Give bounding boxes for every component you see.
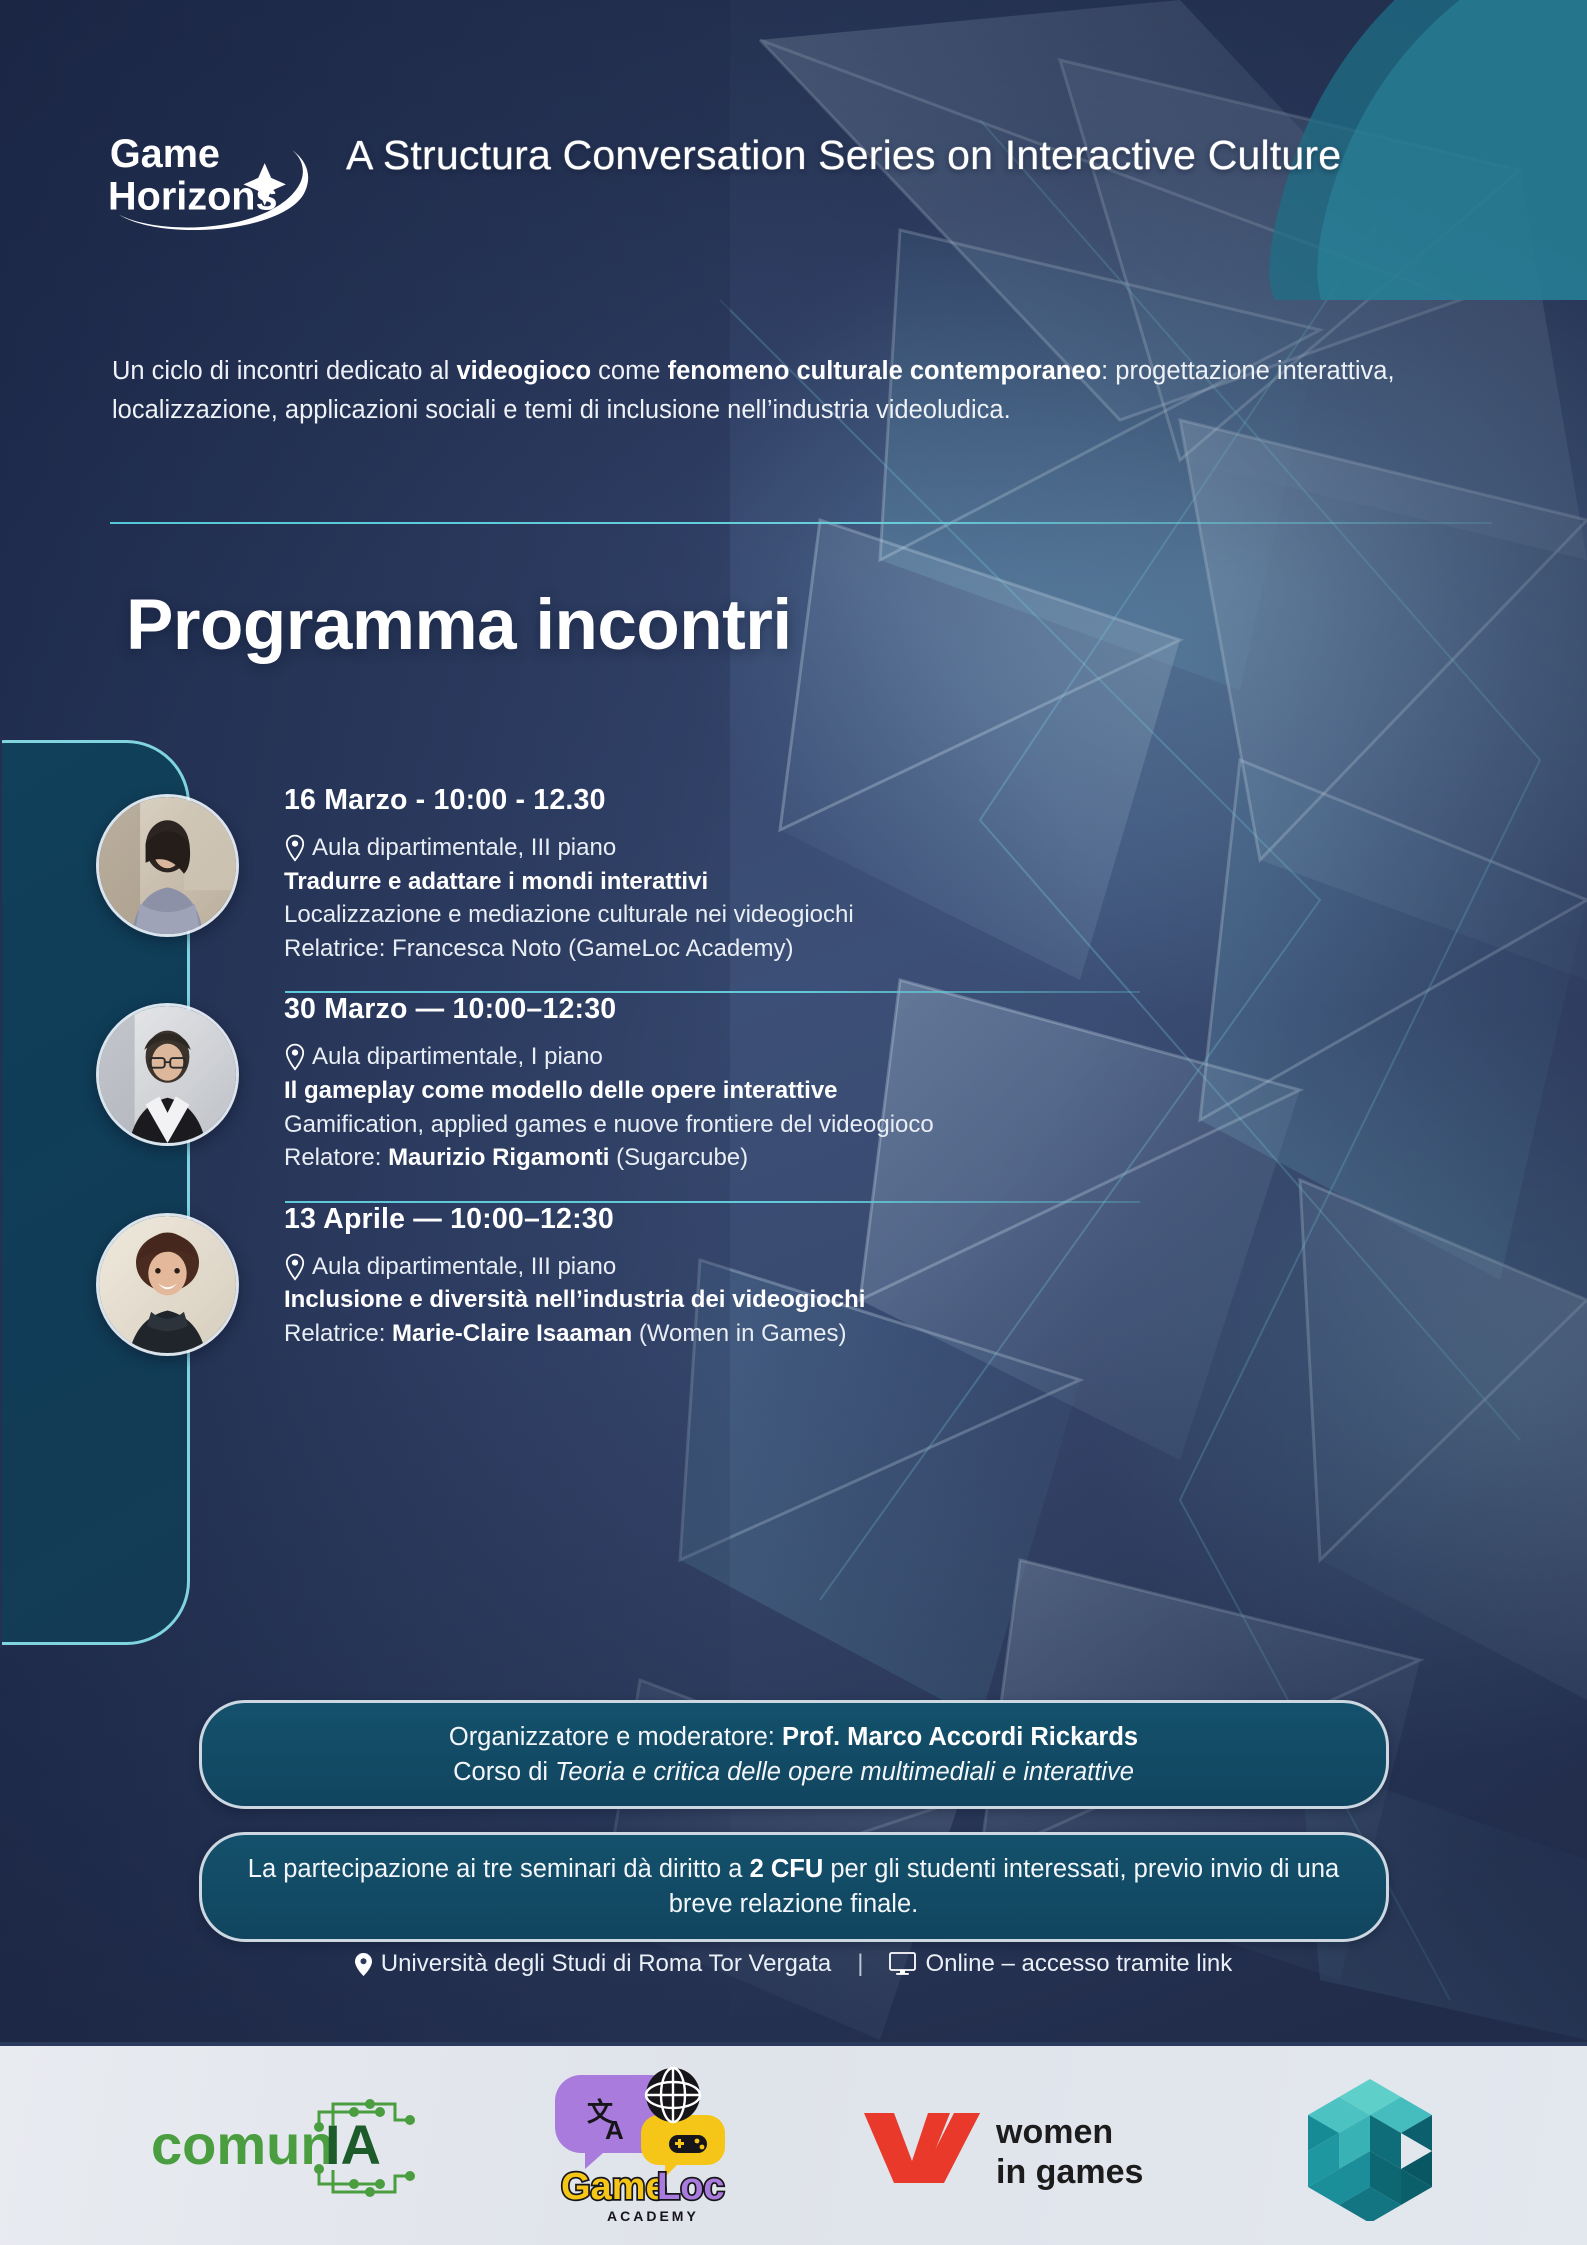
course-line: Corso di Teoria e critica delle opere mu… <box>242 1755 1346 1790</box>
event-speaker-label: Relatrice: <box>284 1320 392 1347</box>
event-date: 30 Marzo — 10:00–12:30 <box>284 993 934 1026</box>
program-list: 16 Marzo - 10:00 - 12.30 Aula dipartimen… <box>0 770 1587 1356</box>
cfu-pill: La partecipazione ai tre seminari dà dir… <box>199 1832 1389 1941</box>
event-subtitle: Localizzazione e mediazione culturale ne… <box>284 898 854 932</box>
poster-header: Game Horizons A Structura Conversation S… <box>108 128 1497 230</box>
event-details: 16 Marzo - 10:00 - 12.30 Aula dipartimen… <box>284 770 854 965</box>
event-speaker-name: Francesca Noto <box>392 935 561 962</box>
venue-chunk: Università degli Studi di Roma Tor Verga… <box>355 1950 831 1978</box>
intro-part-1: Un ciclo di incontri dedicato al <box>112 357 456 385</box>
header-divider <box>110 522 1492 524</box>
svg-text:Game: Game <box>110 132 220 176</box>
location-pin-icon <box>284 834 306 862</box>
event-title: Inclusione e diversità nell’industria de… <box>284 1283 865 1317</box>
event-location: Aula dipartimentale, I piano <box>284 1040 934 1074</box>
event-location-text: Aula dipartimentale, I piano <box>312 1040 603 1074</box>
event-speaker-affiliation: (Women in Games) <box>632 1320 846 1347</box>
avatar <box>96 794 239 937</box>
intro-bold-fenomeno: fenomeno culturale contemporaneo <box>668 357 1102 385</box>
list-item[interactable]: 30 Marzo — 10:00–12:30 Aula dipartimenta… <box>0 979 1587 1174</box>
svg-text:Game: Game <box>561 2166 667 2208</box>
event-title: Tradurre e adattare i mondi interattivi <box>284 865 854 899</box>
svg-text:in games: in games <box>996 2153 1143 2191</box>
location-pin-icon <box>355 1953 372 1976</box>
event-speaker-name: Marie-Claire Isaaman <box>392 1320 632 1347</box>
logo-comunia[interactable]: comun IA <box>147 2086 437 2206</box>
event-details: 13 Aprile — 10:00–12:30 Aula dipartiment… <box>284 1189 865 1351</box>
online-chunk: Online – accesso tramite link <box>889 1950 1232 1978</box>
game-horizons-logo: Game Horizons <box>108 128 320 230</box>
event-speaker: Relatrice: Francesca Noto (GameLoc Acade… <box>284 932 854 966</box>
event-date: 13 Aprile — 10:00–12:30 <box>284 1203 865 1236</box>
event-speaker-name: Maurizio Rigamonti <box>388 1144 609 1171</box>
event-details: 30 Marzo — 10:00–12:30 Aula dipartimenta… <box>284 979 934 1174</box>
sponsor-logo-strip: comun IA <box>0 2042 1587 2245</box>
event-speaker: Relatore: Maurizio Rigamonti (Sugarcube) <box>284 1141 934 1175</box>
event-date: 16 Marzo - 10:00 - 12.30 <box>284 784 854 817</box>
list-item[interactable]: 13 Aprile — 10:00–12:30 Aula dipartiment… <box>0 1189 1587 1356</box>
course-name: Teoria e critica delle opere multimedial… <box>555 1758 1134 1786</box>
intro-bold-videogioco: videogioco <box>456 357 591 385</box>
organizer-pill: Organizzatore e moderatore: Prof. Marco … <box>199 1700 1389 1809</box>
series-title: A Structura Conversation Series on Inter… <box>346 128 1341 178</box>
event-speaker-label: Relatrice: <box>284 935 392 962</box>
svg-text:women: women <box>995 2113 1113 2151</box>
location-pin-icon <box>284 1253 306 1281</box>
venue-meta-row: Università degli Studi di Roma Tor Verga… <box>0 1950 1587 1978</box>
event-location-text: Aula dipartimentale, III piano <box>312 1250 616 1284</box>
event-speaker-affiliation: (GameLoc Academy) <box>561 935 793 962</box>
svg-text:Loc: Loc <box>657 2166 725 2208</box>
intro-paragraph: Un ciclo di incontri dedicato al videogi… <box>112 352 1472 430</box>
location-pin-icon <box>284 1043 306 1071</box>
logo-gameloc-academy[interactable]: 文 A Game Loc ACADEMY <box>551 2063 741 2228</box>
svg-text:ACADEMY: ACADEMY <box>607 2208 699 2224</box>
event-speaker-affiliation: (Sugarcube) <box>609 1144 748 1171</box>
avatar <box>96 1003 239 1146</box>
event-speaker: Relatrice: Marie-Claire Isaaman (Women i… <box>284 1317 865 1351</box>
event-location-text: Aula dipartimentale, III piano <box>312 831 616 865</box>
course-prefix: Corso di <box>453 1758 555 1786</box>
cfu-part-1: La partecipazione ai tre seminari dà dir… <box>248 1855 750 1883</box>
monitor-icon <box>889 1952 916 1976</box>
avatar <box>96 1213 239 1356</box>
logo-hexagon[interactable] <box>1300 2071 1440 2221</box>
event-location: Aula dipartimentale, III piano <box>284 831 854 865</box>
organizer-line: Organizzatore e moderatore: Prof. Marco … <box>242 1720 1346 1755</box>
meta-divider: | <box>847 1950 873 1978</box>
list-item[interactable]: 16 Marzo - 10:00 - 12.30 Aula dipartimen… <box>0 770 1587 965</box>
online-text: Online – accesso tramite link <box>925 1950 1232 1978</box>
event-subtitle: Gamification, applied games e nuove fron… <box>284 1108 934 1142</box>
page-title: Programma incontri <box>126 585 792 666</box>
svg-text:comun: comun <box>151 2113 335 2176</box>
poster-root: Game Horizons A Structura Conversation S… <box>0 0 1587 2245</box>
cfu-credits: 2 CFU <box>750 1855 824 1883</box>
venue-text: Università degli Studi di Roma Tor Verga… <box>381 1950 831 1978</box>
logo-women-in-games[interactable]: women in games <box>856 2091 1186 2201</box>
event-speaker-label: Relatore: <box>284 1144 388 1171</box>
info-pills: Organizzatore e moderatore: Prof. Marco … <box>0 1700 1587 1942</box>
event-title: Il gameplay come modello delle opere int… <box>284 1074 934 1108</box>
organizer-name: Prof. Marco Accordi Rickards <box>782 1723 1138 1751</box>
organizer-prefix: Organizzatore e moderatore: <box>449 1723 782 1751</box>
event-location: Aula dipartimentale, III piano <box>284 1250 865 1284</box>
svg-text:A: A <box>605 2115 624 2145</box>
intro-part-2: come <box>591 357 668 385</box>
